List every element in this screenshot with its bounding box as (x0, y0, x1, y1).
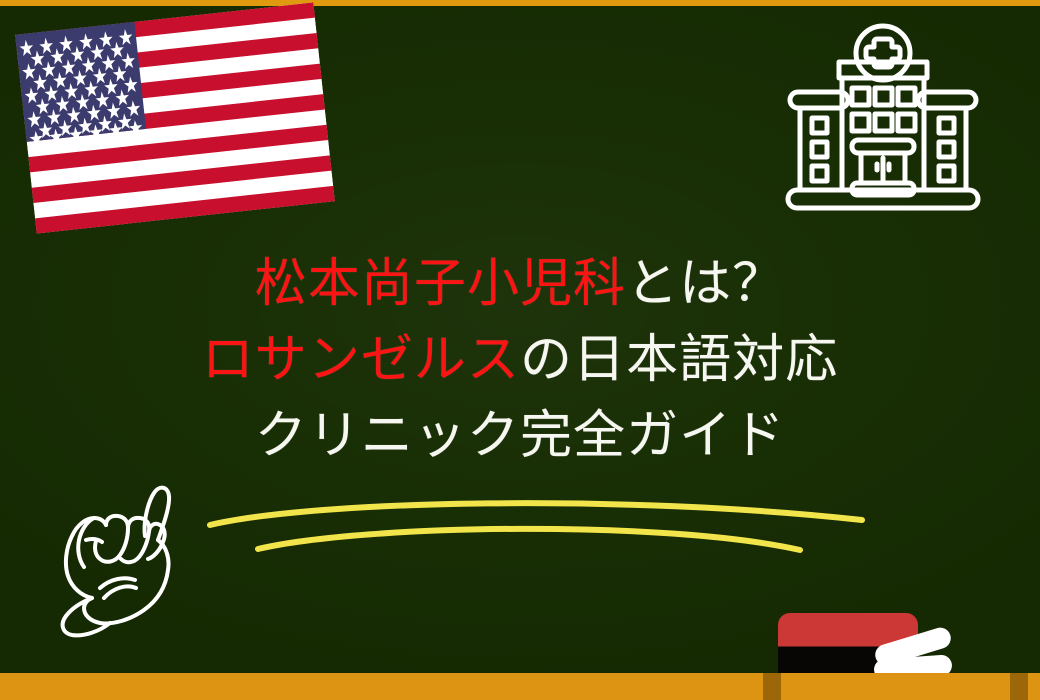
headline-line-3: クリニック完全ガイド (0, 410, 1040, 462)
frame-top-border (0, 0, 1040, 6)
tower-window (852, 88, 869, 105)
wing-window (939, 118, 954, 133)
hospital-svg (772, 18, 994, 218)
page-title: 松本尚子小児科とは？ ロサンゼルスの日本語対応 クリニック完全ガイド (0, 258, 1040, 462)
tower-window (898, 88, 915, 105)
tower-window (875, 88, 892, 105)
folded-finger-pinky (148, 524, 165, 559)
hand-svg (48, 478, 198, 643)
wing-window (939, 142, 954, 157)
ledge-divider (1010, 673, 1028, 700)
headline-line-2: ロサンゼルスの日本語対応 (0, 334, 1040, 386)
headline-line-1: 松本尚子小児科とは？ (0, 258, 1040, 310)
headline-line-1-accent: 松本尚子小児科 (255, 255, 626, 313)
underline-svg (196, 492, 886, 570)
united-states-flag (15, 2, 335, 233)
yellow-double-arc-underline (196, 492, 886, 570)
ledge-divider (763, 673, 781, 700)
pointing-up-hand-icon (48, 478, 198, 643)
headline-line-3-plain: クリニック完全ガイド (255, 407, 785, 465)
tower-window (875, 114, 892, 131)
headline-line-1-plain: とは？ (626, 255, 785, 313)
headline-line-2-plain: の日本語対応 (520, 331, 838, 389)
underline-arc-upper (210, 503, 862, 525)
flag-svg (15, 2, 335, 233)
underline-arc-lower (258, 529, 800, 550)
chalkboard-title-card: 松本尚子小児科とは？ ロサンゼルスの日本語対応 クリニック完全ガイド (0, 0, 1040, 700)
wing-window (812, 118, 827, 133)
chalkboard-ledge (0, 673, 1040, 700)
headline-line-2-accent: ロサンゼルス (202, 331, 520, 389)
wing-window (812, 142, 827, 157)
tower-window (852, 114, 869, 131)
wing-window (812, 166, 827, 181)
knuckle-crease-2 (104, 586, 136, 598)
hospital-building-icon (772, 18, 994, 218)
wing-window (939, 166, 954, 181)
tower-window (898, 114, 915, 131)
